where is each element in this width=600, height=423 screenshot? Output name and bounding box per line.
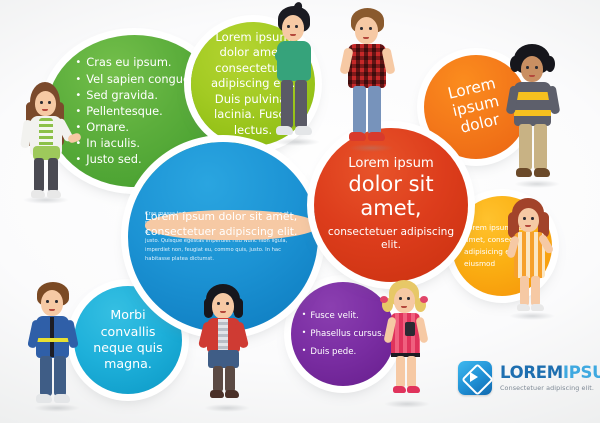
eye-right: [369, 27, 372, 30]
face: [394, 288, 415, 313]
inner-top: [218, 319, 228, 351]
leg-right: [54, 356, 66, 396]
list-item: Fusce velit.: [302, 307, 385, 325]
logo-tagline: Consectetuer adipiscing elit.: [500, 385, 600, 391]
blue-text-wrap: Lorem ipsum dolor sit amet, consectetuer…: [128, 210, 318, 264]
list-item: In iaculis.: [75, 135, 193, 151]
eye-left: [523, 217, 526, 220]
character-shadow: [204, 404, 250, 412]
character-girl-pink-dress: [378, 280, 436, 404]
cyan-text: Morbi convallis neque quis magna.: [74, 303, 182, 376]
logo-word-primary: LOREM: [500, 363, 563, 382]
dress-hem: [391, 353, 420, 357]
character-girl-red-jacket: [196, 284, 258, 408]
shoe-left: [393, 386, 406, 393]
bow-right: [420, 296, 428, 303]
eye-right: [531, 217, 534, 220]
shoe-right: [534, 168, 550, 177]
list-item: Pellentesque.: [75, 103, 193, 119]
leg-left: [40, 356, 52, 396]
shoe-left: [210, 390, 224, 398]
leg-right: [534, 124, 547, 170]
leg-left: [213, 366, 223, 392]
character-shadow: [509, 312, 555, 320]
eye-left: [399, 297, 402, 300]
jacket-zipper: [50, 317, 54, 357]
leg-right: [295, 80, 307, 128]
shoe-right: [47, 190, 61, 198]
leg-right: [368, 86, 381, 134]
shoe-left: [517, 304, 530, 311]
face: [521, 56, 543, 82]
character-shadow: [34, 404, 80, 412]
list-item: Sed gravida.: [75, 87, 193, 103]
shoe-left: [349, 132, 366, 141]
list-item: Duis pede.: [302, 343, 385, 361]
character-shadow: [23, 196, 69, 204]
red-line-3: consectetuer adipiscing elit.: [322, 226, 460, 252]
face: [282, 15, 304, 41]
logo-wordmark: LOREMIPSUM Consectetuer adipiscing elit.: [500, 365, 600, 391]
face: [35, 91, 56, 116]
poster-canvas: Cras eu ipsum. Vel sapien congue. Sed gr…: [0, 0, 600, 423]
character-girl-orange-dress: [502, 198, 562, 316]
skirt: [208, 350, 239, 368]
bubble-red-main[interactable]: Lorem ipsum dolor sit amet, consectetuer…: [314, 128, 468, 282]
play-diamond-icon: [458, 361, 492, 395]
shoe-right: [368, 132, 385, 141]
red-text-wrap: Lorem ipsum dolor sit amet, consectetuer…: [314, 153, 468, 256]
shoe-left: [31, 190, 45, 198]
list-item: Phasellus cursus.: [302, 325, 385, 343]
logo-title: LOREMIPSUM: [500, 365, 600, 382]
shoe-left: [36, 394, 52, 403]
shoe-right: [407, 386, 420, 393]
leg-left: [396, 356, 405, 388]
face: [41, 290, 63, 316]
leg-right: [225, 366, 235, 392]
eye-right: [55, 300, 58, 303]
hair-side-left: [510, 56, 520, 72]
eye-right: [48, 101, 51, 104]
plaid-shirt: [348, 44, 386, 88]
eye-left: [526, 66, 529, 69]
eye-left: [360, 27, 363, 30]
striped-sweater: [514, 82, 551, 126]
red-line-2: dolor sit amet,: [322, 173, 460, 220]
shoe-right: [531, 304, 544, 311]
character-shadow: [514, 180, 560, 188]
face: [212, 293, 234, 319]
shoe-right: [54, 394, 70, 403]
leg-left: [520, 276, 529, 306]
eye-left: [40, 101, 43, 104]
logo-word-secondary: IPSUM: [563, 363, 600, 382]
shoe-right: [225, 390, 239, 398]
character-shadow: [274, 138, 320, 146]
shoe-left: [276, 126, 293, 135]
leg-right: [407, 356, 416, 388]
eye-right: [535, 66, 538, 69]
character-boy-blue-jacket: [26, 282, 88, 408]
hair-side-right: [545, 56, 555, 72]
character-boy-green-shirt: [266, 6, 328, 142]
purple-bullet-list: Fusce velit. Phasellus cursus. Duis pede…: [302, 307, 385, 360]
list-item: Cras eu ipsum.: [75, 54, 193, 70]
bow-left: [380, 296, 388, 303]
leg-right: [48, 158, 58, 192]
face: [355, 17, 378, 44]
eye-left: [217, 302, 220, 305]
red-line-1: Lorem ipsum: [322, 157, 460, 172]
list-item: Ornare.: [75, 119, 193, 135]
character-shadow: [348, 144, 394, 152]
hair-side-right: [234, 298, 243, 318]
leg-left: [519, 124, 532, 170]
shoe-left: [516, 168, 532, 177]
list-item: Vel sapien congue.: [75, 71, 193, 87]
leg-left: [353, 86, 366, 134]
leg-left: [281, 80, 293, 128]
character-boy-plaid-shirt: [338, 8, 404, 148]
leg-right: [531, 276, 540, 306]
character-boy-striped-sweater: [504, 44, 570, 184]
shoe-right: [295, 126, 312, 135]
shoulder-bag: [405, 322, 415, 336]
logo[interactable]: LOREMIPSUM Consectetuer adipiscing elit.: [458, 361, 600, 395]
eye-right: [407, 297, 410, 300]
face: [518, 208, 539, 232]
jacket-stripe: [36, 338, 69, 342]
eye-left: [287, 25, 290, 28]
blue-heading: Lorem ipsum dolor sit amet, consectetuer…: [145, 210, 318, 240]
character-girl-left: [8, 82, 84, 200]
eye-right: [226, 302, 229, 305]
green-bullet-list: Cras eu ipsum. Vel sapien congue. Sed gr…: [75, 54, 193, 167]
eye-left: [46, 300, 49, 303]
eye-right: [295, 25, 298, 28]
character-shadow: [384, 400, 430, 408]
leg-left: [34, 158, 44, 192]
